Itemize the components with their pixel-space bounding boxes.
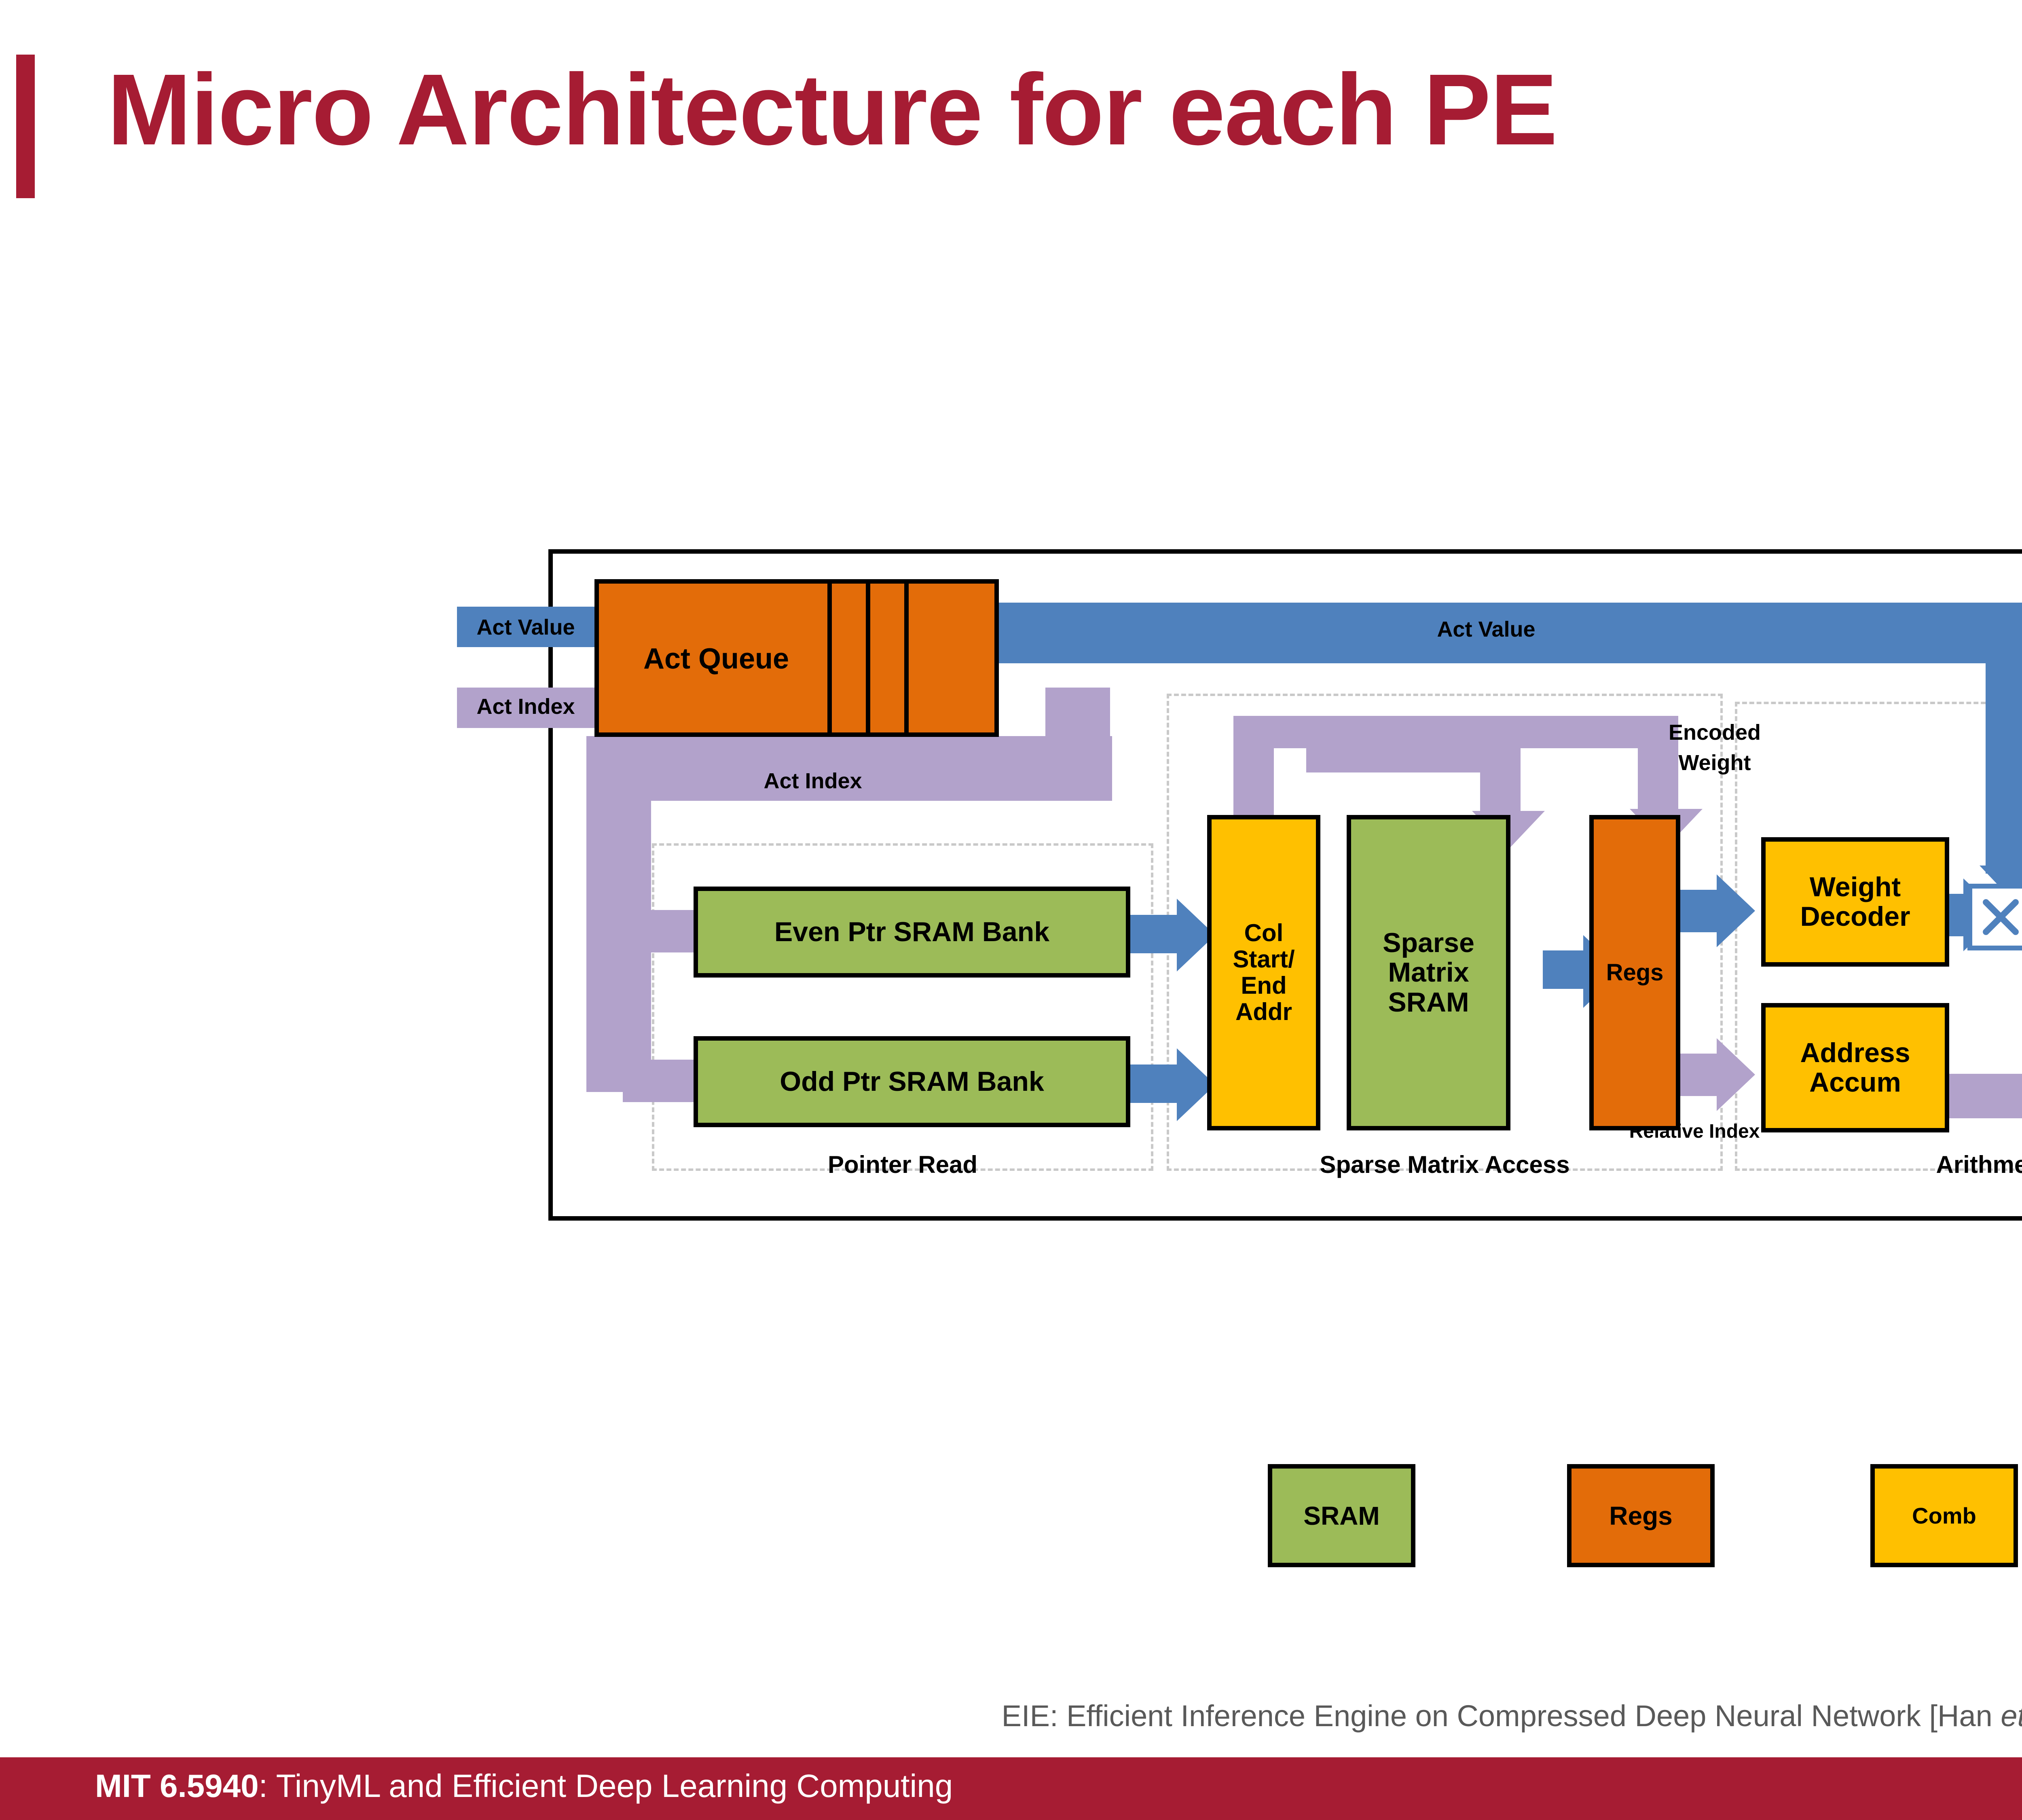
label-act-value-top: Act Value (1385, 617, 1587, 642)
arrow-to-even-ptr-shaft (623, 910, 694, 952)
ribbon-col-feedback-down-sram (1480, 740, 1521, 819)
footer-course-code: MIT 6.5940 (95, 1768, 259, 1804)
label-encoded-weight-2: Weight (1638, 750, 1791, 775)
label-input-act-index: Act Index (461, 694, 590, 719)
arrow-regs-to-addr-accum-head (1717, 1038, 1755, 1111)
act-queue-divider-2 (866, 584, 870, 732)
source-caption: EIE: Efficient Inference Engine on Compr… (0, 1699, 2022, 1733)
legend-label-sram: SRAM (1303, 1501, 1379, 1531)
group-label-pointer-read: Pointer Read (652, 1151, 1153, 1179)
pe-microarchitecture-diagram: Pointer Read Sparse Matrix Access Arithm… (0, 0, 2022, 1820)
legend-label-comb: Comb (1912, 1503, 1976, 1529)
group-label-sparse-matrix-access: Sparse Matrix Access (1167, 1151, 1723, 1179)
block-weight-decoder[interactable]: Weight Decoder (1761, 837, 1949, 967)
block-odd-ptr-label: Odd Ptr SRAM Bank (780, 1067, 1044, 1096)
caption-pre: EIE: Efficient Inference Engine on Compr… (1002, 1699, 2001, 1733)
slide-root: Micro Architecture for each PE Pointer R… (0, 0, 2022, 1820)
caption-emphasis: et al. (2001, 1699, 2022, 1733)
block-sparse-matrix-sram-label: Sparse Matrix SRAM (1383, 928, 1474, 1017)
act-queue-divider-1 (827, 584, 832, 732)
arrow-to-odd-ptr-shaft (623, 1060, 694, 1102)
block-col-start-end-addr-label: Col Start/ End Addr (1233, 920, 1294, 1025)
block-col-start-end-addr[interactable]: Col Start/ End Addr (1207, 815, 1320, 1130)
ribbon-act-value-down (1986, 603, 2022, 874)
block-address-accum-label: Address Accum (1800, 1038, 1910, 1098)
arrow-odd-ptr-to-col-shaft (1128, 1064, 1177, 1103)
legend-item-regs: Regs (1567, 1464, 1715, 1567)
label-input-act-value: Act Value (461, 615, 590, 640)
multiply-icon (1967, 884, 2022, 950)
label-act-index-mid: Act Index (712, 768, 914, 794)
arrow-sram-to-regs-shaft (1543, 950, 1583, 989)
act-queue-divider-3 (904, 584, 909, 732)
block-even-ptr-label: Even Ptr SRAM Bank (774, 917, 1049, 947)
block-even-ptr-sram-bank[interactable]: Even Ptr SRAM Bank (694, 887, 1130, 978)
group-label-arithmetic-unit: Arithmetic Unit (1735, 1151, 2022, 1179)
legend-label-regs: Regs (1609, 1501, 1673, 1531)
label-absolute-address: Absolute Address (1937, 1080, 2022, 1104)
block-odd-ptr-sram-bank[interactable]: Odd Ptr SRAM Bank (694, 1036, 1130, 1127)
arrow-regs-to-weight-decoder-head (1717, 874, 1755, 947)
footer-course-title: : TinyML and Efficient Deep Learning Com… (259, 1768, 953, 1804)
block-act-queue-label: Act Queue (615, 643, 817, 675)
block-regs[interactable]: Regs (1589, 815, 1680, 1130)
label-encoded-weight-1: Encoded (1638, 720, 1791, 745)
block-sparse-matrix-sram[interactable]: Sparse Matrix SRAM (1347, 815, 1510, 1130)
block-address-accum[interactable]: Address Accum (1761, 1003, 1949, 1132)
footer-course: MIT 6.5940: TinyML and Efficient Deep Le… (95, 1767, 953, 1805)
block-weight-decoder-label: Weight Decoder (1800, 872, 1910, 932)
arrow-even-ptr-to-col-shaft (1128, 915, 1177, 953)
legend-item-comb: Comb (1870, 1464, 2018, 1567)
legend-item-sram: SRAM (1268, 1464, 1415, 1567)
block-regs-label: Regs (1606, 960, 1664, 986)
block-act-queue[interactable]: Act Queue (594, 579, 999, 737)
